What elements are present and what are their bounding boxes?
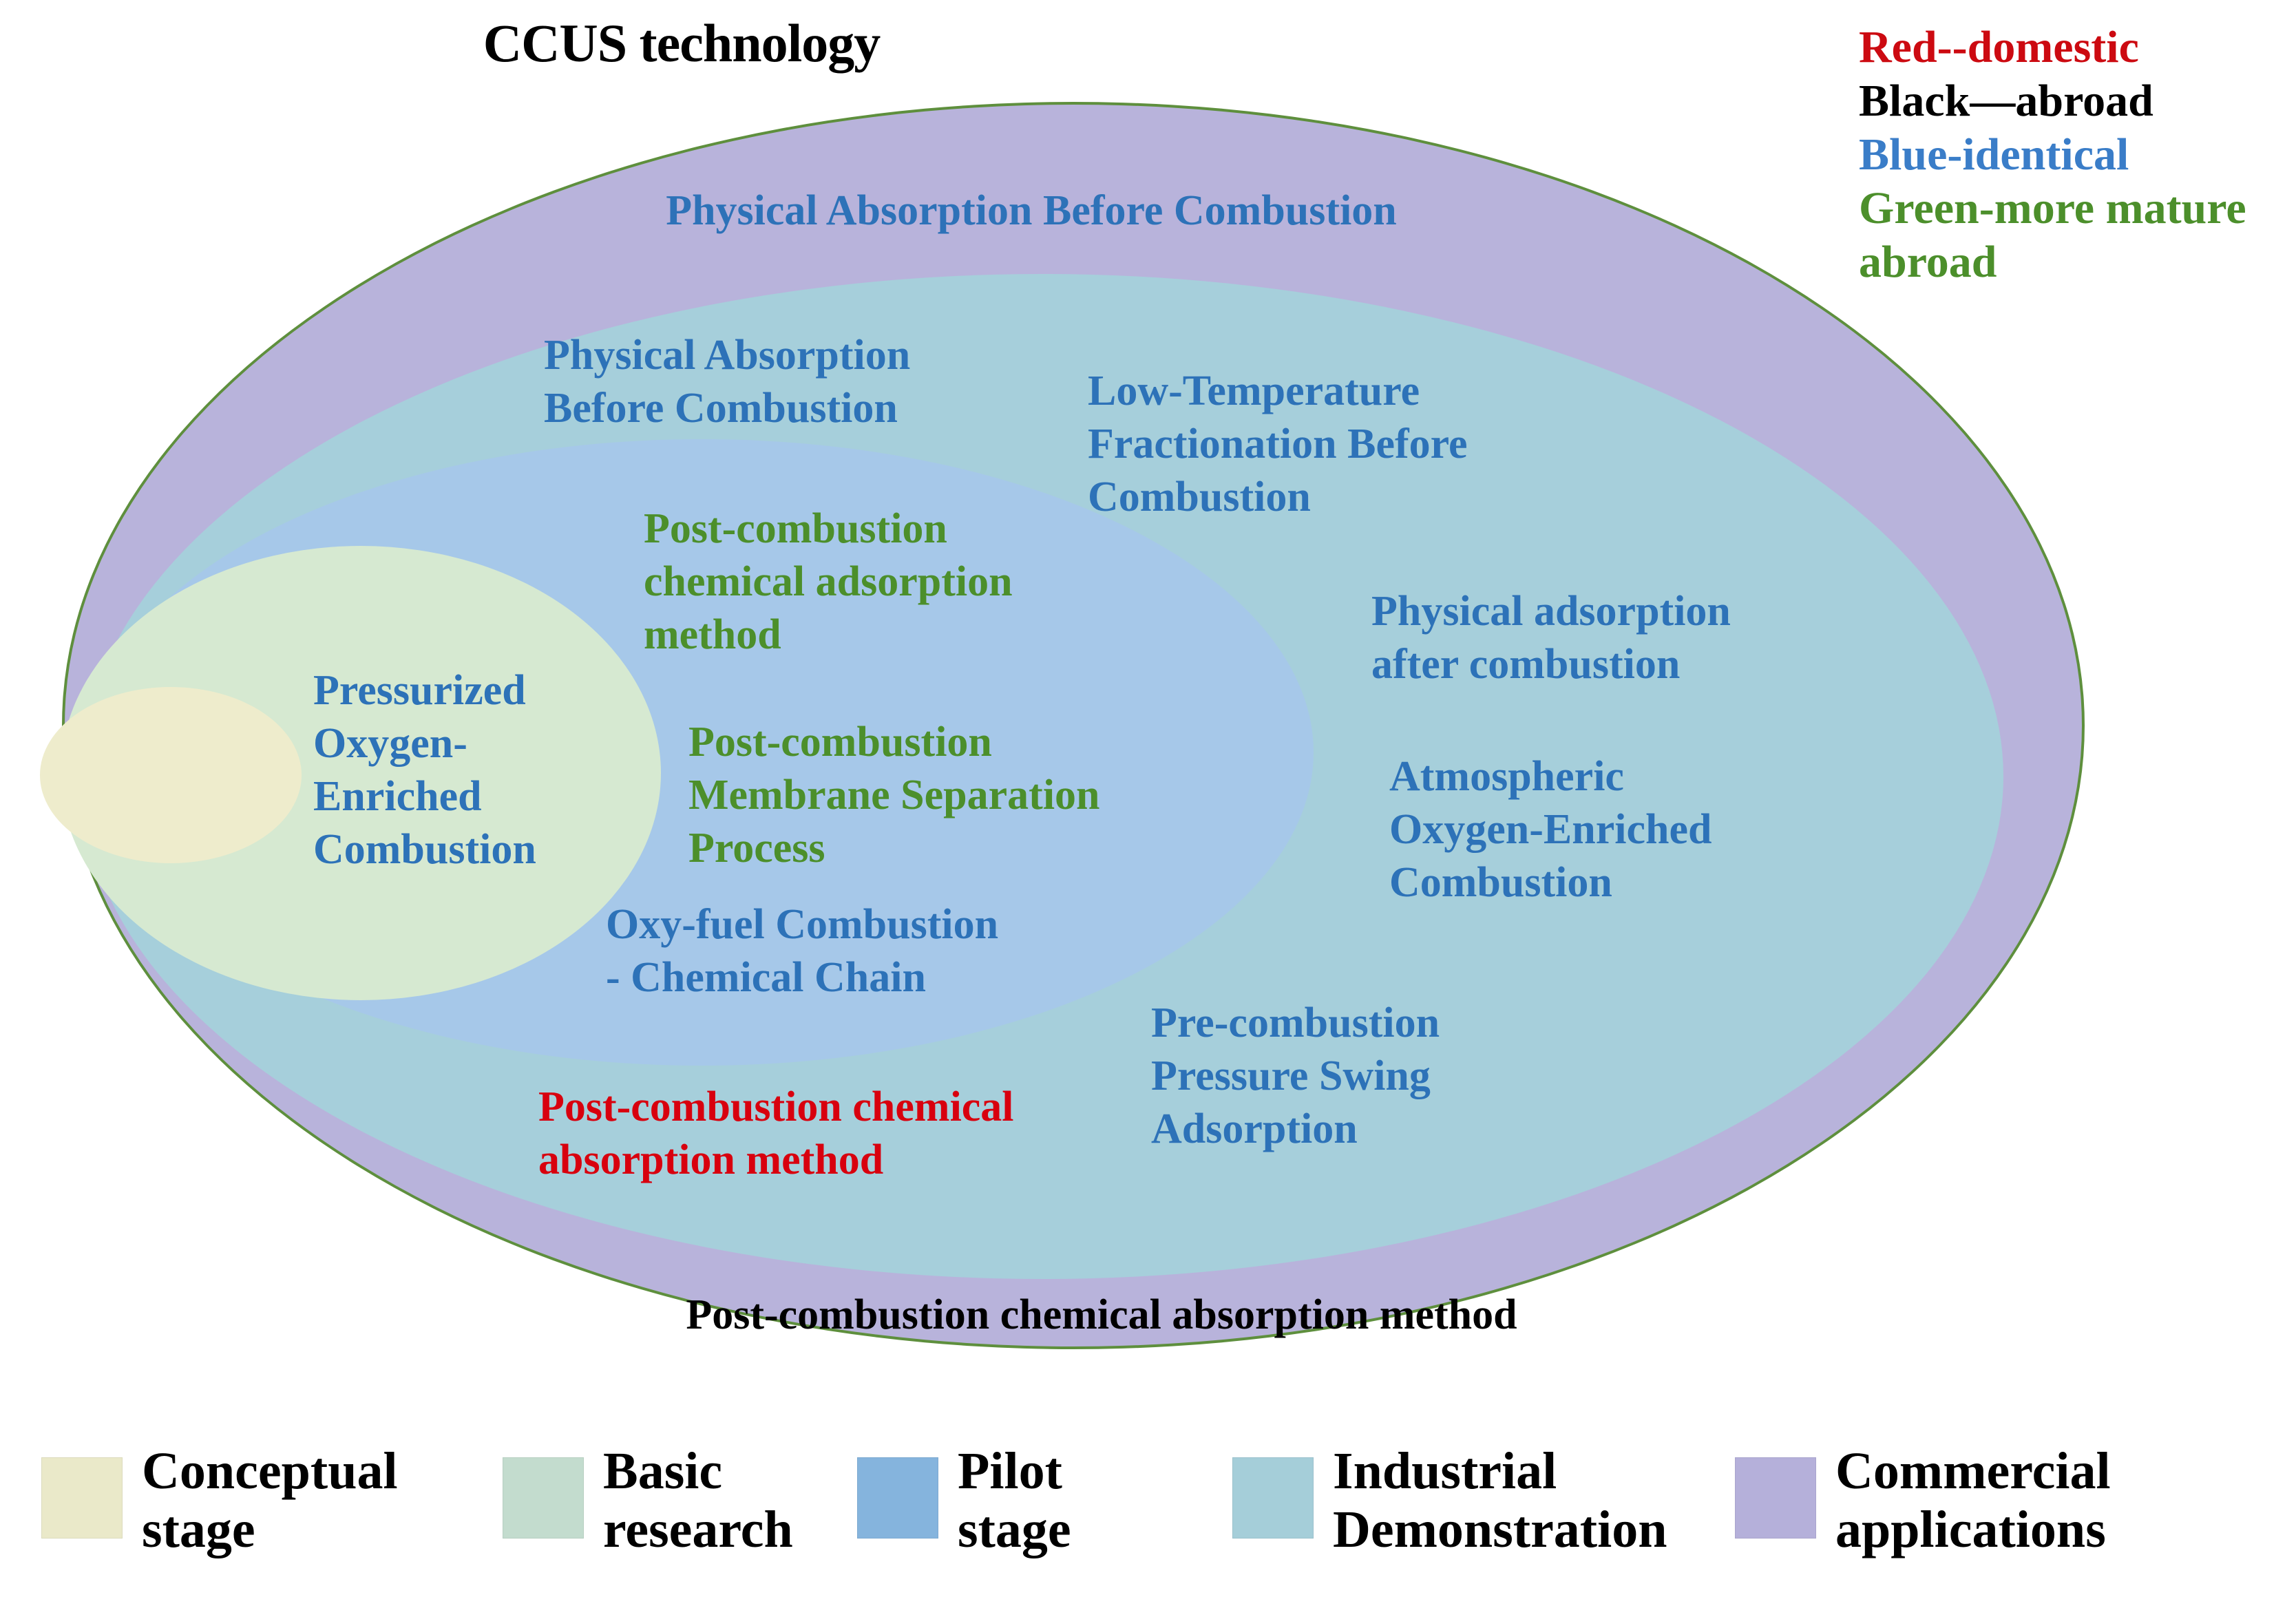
label-post-combustion-chemical-absorption-method-domestic: Post-combustion chemical absorption meth…: [538, 1081, 1117, 1187]
legend-item-industrial-demonstration: Industrial Demonstration: [1232, 1442, 1667, 1559]
ellipse-conceptual-stage: [40, 687, 302, 863]
legend-item-pilot-stage: Pilot stage: [857, 1442, 1071, 1559]
label-low-temperature-fractionation-before-combustion: Low-Temperature Fractionation Before Com…: [1088, 365, 1611, 524]
color-key-black: Black—abroad: [1859, 74, 2286, 128]
label-pre-combustion-pressure-swing-adsorption: Pre-combustion Pressure Swing Adsorption: [1151, 997, 1516, 1156]
label-post-combustion-membrane-separation-process: Post-combustion Membrane Separation Proc…: [688, 716, 1184, 875]
color-key-green: Green-more mature abroad: [1859, 182, 2286, 289]
label-post-combustion-chemical-absorption-method-abroad: Post-combustion chemical absorption meth…: [523, 1289, 1680, 1342]
label-physical-adsorption-after-combustion: Physical adsorption after combustion: [1371, 585, 1812, 691]
legend-swatch-commercial-applications: [1735, 1457, 1816, 1539]
page-title: CCUS technology: [0, 12, 1363, 74]
color-key-red: Red--domestic: [1859, 21, 2286, 74]
diagram-canvas: CCUS technology Red--domestic Black—abro…: [0, 0, 2296, 1617]
legend-label-conceptual-stage: Conceptual stage: [142, 1442, 398, 1559]
label-oxy-fuel-combustion-chemical-chain: Oxy-fuel Combustion - Chemical Chain: [606, 898, 1088, 1004]
stage-legend: Conceptual stage Basic research Pilot st…: [0, 1442, 2296, 1607]
legend-swatch-basic-research: [503, 1457, 584, 1539]
label-atmospheric-oxygen-enriched-combustion: Atmospheric Oxygen-Enriched Combustion: [1389, 750, 1789, 909]
legend-swatch-pilot-stage: [857, 1457, 938, 1539]
label-post-combustion-chemical-adsorption-method: Post-combustion chemical adsorption meth…: [644, 503, 1119, 662]
legend-label-basic-research: Basic research: [603, 1442, 793, 1559]
color-key-blue: Blue-identical: [1859, 128, 2286, 182]
legend-swatch-conceptual-stage: [41, 1457, 123, 1539]
legend-label-commercial-applications: Commercial applications: [1835, 1442, 2111, 1559]
label-physical-absorption-before-combustion-commercial: Physical Absorption Before Combustion: [577, 184, 1486, 237]
legend-item-conceptual-stage: Conceptual stage: [41, 1442, 398, 1559]
label-physical-absorption-before-combustion-industrial: Physical Absorption Before Combustion: [544, 329, 1012, 435]
label-pressurized-oxygen-enriched-combustion: Pressurized Oxygen- Enriched Combustion: [313, 664, 609, 876]
legend-item-commercial-applications: Commercial applications: [1735, 1442, 2111, 1559]
color-key: Red--domestic Black—abroad Blue-identica…: [1859, 21, 2286, 288]
legend-label-industrial-demonstration: Industrial Demonstration: [1333, 1442, 1667, 1559]
legend-label-pilot-stage: Pilot stage: [958, 1442, 1071, 1559]
legend-item-basic-research: Basic research: [503, 1442, 793, 1559]
legend-swatch-industrial-demonstration: [1232, 1457, 1314, 1539]
